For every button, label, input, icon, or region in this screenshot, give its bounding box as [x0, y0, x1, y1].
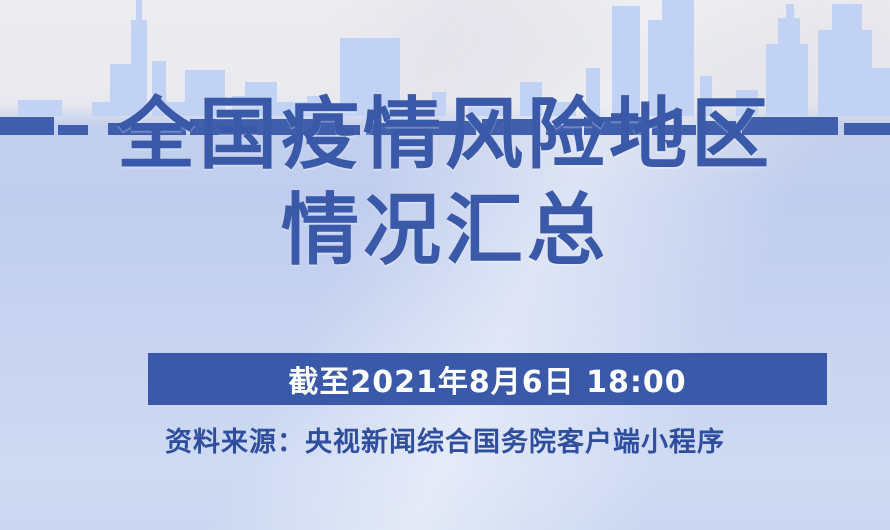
date-banner: 截至2021年8月6日 18:00 — [148, 353, 827, 405]
title-line-1: 全国疫情风险地区 — [0, 96, 890, 174]
poster-canvas: 全国疫情风险地区 情况汇总 截至2021年8月6日 18:00 资料来源：央视新… — [0, 0, 890, 530]
poster-title-block: 全国疫情风险地区 情况汇总 — [0, 96, 890, 270]
title-line-2: 情况汇总 — [0, 192, 890, 270]
source-attribution: 资料来源：央视新闻综合国务院客户端小程序 — [0, 420, 890, 459]
date-banner-text: 截至2021年8月6日 18:00 — [288, 357, 686, 401]
